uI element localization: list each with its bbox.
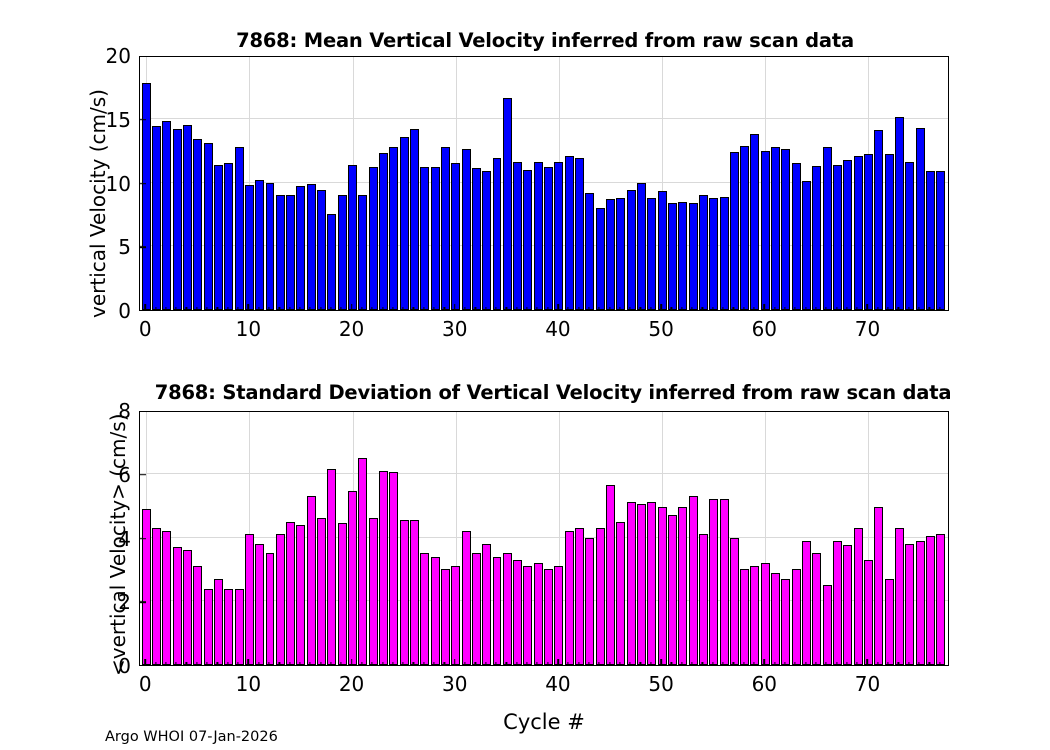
bar <box>936 171 945 310</box>
x-minor-tick-mark <box>237 307 238 311</box>
bar <box>224 163 233 310</box>
x-minor-tick-mark <box>258 662 259 666</box>
x-minor-tick-mark <box>619 307 620 311</box>
bar <box>534 563 543 665</box>
x-tick-mark <box>764 304 766 311</box>
x-minor-tick-mark <box>299 662 300 666</box>
bar <box>885 579 894 665</box>
x-minor-tick-mark <box>650 307 651 311</box>
x-tick-mark <box>867 304 869 311</box>
x-minor-tick-mark <box>423 662 424 666</box>
x-tick-label: 0 <box>139 674 152 694</box>
x-minor-tick-mark <box>939 307 940 311</box>
x-minor-tick-mark <box>609 307 610 311</box>
x-minor-tick-mark <box>227 662 228 666</box>
x-minor-tick-mark <box>217 662 218 666</box>
bar <box>585 193 594 310</box>
mean-velocity-y-axis-label: vertical Velocity (cm/s) <box>88 89 108 318</box>
x-minor-tick-mark <box>165 307 166 311</box>
bar <box>173 129 182 310</box>
std-velocity-panel: 7868: Standard Deviation of Vertical Vel… <box>0 360 1050 750</box>
x-minor-tick-mark <box>186 307 187 311</box>
bar <box>885 154 894 310</box>
x-minor-tick-mark <box>361 662 362 666</box>
x-tick-label: 30 <box>442 674 467 694</box>
x-minor-tick-mark <box>918 307 919 311</box>
x-minor-tick-mark <box>485 662 486 666</box>
x-minor-tick-mark <box>877 662 878 666</box>
x-minor-tick-mark <box>227 307 228 311</box>
x-minor-tick-mark <box>722 662 723 666</box>
x-tick-label: 70 <box>855 319 880 339</box>
x-minor-tick-mark <box>578 307 579 311</box>
bar <box>472 553 481 665</box>
x-tick-mark <box>144 304 146 311</box>
bar <box>276 534 285 665</box>
y-tick-mark <box>139 183 146 185</box>
x-tick-label: 70 <box>855 674 880 694</box>
bar <box>647 198 656 310</box>
bar <box>905 544 914 665</box>
bar <box>616 198 625 310</box>
bar <box>843 545 852 665</box>
bar <box>193 566 202 665</box>
bar <box>730 152 739 310</box>
x-tick-label: 30 <box>442 319 467 339</box>
bar <box>482 171 491 310</box>
x-minor-tick-mark <box>320 307 321 311</box>
bar <box>183 550 192 665</box>
bar <box>255 180 264 310</box>
x-minor-tick-mark <box>341 307 342 311</box>
bar <box>245 185 254 310</box>
bar <box>823 585 832 665</box>
x-minor-tick-mark <box>155 307 156 311</box>
x-minor-tick-mark <box>599 307 600 311</box>
x-tick-label: 60 <box>752 319 777 339</box>
bar <box>781 579 790 665</box>
bar <box>596 208 605 310</box>
x-minor-tick-mark <box>609 662 610 666</box>
x-minor-tick-mark <box>826 307 827 311</box>
x-minor-tick-mark <box>330 307 331 311</box>
bar <box>513 560 522 665</box>
x-minor-tick-mark <box>671 662 672 666</box>
x-minor-tick-mark <box>320 662 321 666</box>
bar <box>245 534 254 665</box>
x-minor-tick-mark <box>310 307 311 311</box>
x-minor-tick-mark <box>403 307 404 311</box>
bar <box>720 197 729 310</box>
x-minor-tick-mark <box>650 662 651 666</box>
x-minor-tick-mark <box>733 662 734 666</box>
bar <box>781 149 790 310</box>
bar <box>162 531 171 665</box>
bar <box>420 553 429 665</box>
x-minor-tick-mark <box>815 662 816 666</box>
x-minor-tick-mark <box>898 662 899 666</box>
bar <box>420 167 429 310</box>
x-tick-mark <box>660 304 662 311</box>
bar <box>709 499 718 665</box>
x-tick-mark <box>351 659 353 666</box>
x-minor-tick-mark <box>877 307 878 311</box>
bar <box>493 557 502 665</box>
bar <box>286 522 295 665</box>
mean-velocity-panel: 7868: Mean Vertical Velocity inferred fr… <box>0 0 1050 360</box>
x-minor-tick-mark <box>547 662 548 666</box>
bar <box>451 566 460 665</box>
y-tick-mark <box>139 119 146 121</box>
bar <box>286 195 295 310</box>
x-minor-tick-mark <box>413 307 414 311</box>
figure-canvas: 7868: Mean Vertical Velocity inferred fr… <box>0 0 1050 750</box>
bar <box>606 485 615 665</box>
std-velocity-y-axis-label: <vertical Velocity> (cm/s) <box>108 414 128 677</box>
bar <box>637 183 646 311</box>
x-tick-mark <box>454 659 456 666</box>
bar <box>699 534 708 665</box>
x-minor-tick-mark <box>299 307 300 311</box>
bar <box>905 162 914 310</box>
x-minor-tick-mark <box>207 307 208 311</box>
x-minor-tick-mark <box>341 662 342 666</box>
figure-footer-note: Argo WHOI 07-Jan-2026 <box>105 730 278 745</box>
x-minor-tick-mark <box>237 662 238 666</box>
bar <box>647 502 656 665</box>
x-minor-tick-mark <box>908 307 909 311</box>
bar <box>462 149 471 310</box>
x-minor-tick-mark <box>330 662 331 666</box>
x-minor-tick-mark <box>423 307 424 311</box>
bar <box>565 531 574 665</box>
x-tick-mark <box>248 659 250 666</box>
bar <box>431 557 440 665</box>
std-velocity-bars <box>140 412 948 665</box>
x-minor-tick-mark <box>795 662 796 666</box>
x-minor-tick-mark <box>547 307 548 311</box>
bar <box>152 126 161 310</box>
x-minor-tick-mark <box>743 307 744 311</box>
bar <box>214 579 223 665</box>
x-tick-label: 60 <box>752 674 777 694</box>
x-tick-mark <box>454 304 456 311</box>
x-tick-mark <box>764 659 766 666</box>
bar <box>833 541 842 665</box>
bar <box>317 190 326 310</box>
x-minor-tick-mark <box>857 307 858 311</box>
bar <box>554 162 563 310</box>
bar <box>400 520 409 665</box>
bar <box>204 143 213 310</box>
x-tick-label: 20 <box>339 674 364 694</box>
x-minor-tick-mark <box>712 662 713 666</box>
bar <box>534 162 543 310</box>
x-minor-tick-mark <box>578 662 579 666</box>
x-minor-tick-mark <box>434 662 435 666</box>
x-minor-tick-mark <box>475 307 476 311</box>
bar <box>348 165 357 310</box>
x-minor-tick-mark <box>805 662 806 666</box>
x-tick-label: 20 <box>339 319 364 339</box>
bar <box>689 496 698 665</box>
x-minor-tick-mark <box>846 662 847 666</box>
bar <box>740 569 749 665</box>
x-minor-tick-mark <box>372 307 373 311</box>
x-minor-tick-mark <box>898 307 899 311</box>
bar <box>854 156 863 310</box>
x-minor-tick-mark <box>495 662 496 666</box>
bar <box>689 203 698 310</box>
bar <box>441 147 450 310</box>
x-minor-tick-mark <box>444 662 445 666</box>
x-minor-tick-mark <box>753 662 754 666</box>
bar <box>389 472 398 665</box>
x-minor-tick-mark <box>516 662 517 666</box>
x-minor-tick-mark <box>857 662 858 666</box>
x-minor-tick-mark <box>289 662 290 666</box>
x-minor-tick-mark <box>784 307 785 311</box>
bar <box>162 121 171 310</box>
bar <box>678 202 687 310</box>
bar <box>523 170 532 310</box>
bar <box>895 117 904 310</box>
mean-velocity-chart-title: 7868: Mean Vertical Velocity inferred fr… <box>20 29 1050 52</box>
x-tick-label: 0 <box>139 319 152 339</box>
bar <box>843 160 852 310</box>
bar <box>410 520 419 665</box>
bar <box>627 190 636 310</box>
bar <box>575 528 584 665</box>
x-minor-tick-mark <box>207 662 208 666</box>
bar <box>235 589 244 666</box>
x-minor-tick-mark <box>392 307 393 311</box>
x-minor-tick-mark <box>918 662 919 666</box>
bar <box>678 507 687 665</box>
bar <box>389 147 398 310</box>
bar <box>513 162 522 310</box>
x-minor-tick-mark <box>506 307 507 311</box>
bar <box>379 153 388 310</box>
bar <box>224 589 233 666</box>
x-minor-tick-mark <box>681 662 682 666</box>
bar <box>658 191 667 310</box>
x-minor-tick-mark <box>526 307 527 311</box>
y-tick-mark <box>139 538 146 540</box>
bar <box>761 563 770 665</box>
bar <box>441 569 450 665</box>
bar <box>916 541 925 665</box>
y-tick-mark <box>139 246 146 248</box>
bar <box>235 147 244 310</box>
bar <box>296 525 305 665</box>
x-minor-tick-mark <box>630 307 631 311</box>
bar <box>369 167 378 310</box>
x-minor-tick-mark <box>774 307 775 311</box>
bar <box>523 566 532 665</box>
bar <box>482 544 491 665</box>
x-minor-tick-mark <box>619 662 620 666</box>
bar <box>276 195 285 310</box>
bar <box>730 538 739 666</box>
bar <box>214 165 223 310</box>
bar <box>699 195 708 310</box>
bar <box>616 522 625 665</box>
x-minor-tick-mark <box>403 662 404 666</box>
x-minor-tick-mark <box>444 307 445 311</box>
x-minor-tick-mark <box>588 662 589 666</box>
bar <box>750 134 759 310</box>
bar <box>771 147 780 310</box>
x-tick-label: 40 <box>545 319 570 339</box>
bar <box>874 130 883 310</box>
bar <box>916 128 925 310</box>
x-minor-tick-mark <box>815 307 816 311</box>
x-tick-label: 50 <box>648 674 673 694</box>
x-minor-tick-mark <box>485 307 486 311</box>
x-minor-tick-mark <box>733 307 734 311</box>
x-minor-tick-mark <box>196 662 197 666</box>
x-minor-tick-mark <box>176 307 177 311</box>
bar <box>761 151 770 310</box>
x-minor-tick-mark <box>506 662 507 666</box>
x-minor-tick-mark <box>268 662 269 666</box>
x-minor-tick-mark <box>836 307 837 311</box>
bar <box>307 184 316 310</box>
x-minor-tick-mark <box>702 662 703 666</box>
x-minor-tick-mark <box>795 307 796 311</box>
bar <box>327 214 336 310</box>
x-minor-tick-mark <box>836 662 837 666</box>
x-minor-tick-mark <box>196 307 197 311</box>
bar <box>709 198 718 310</box>
bar <box>317 518 326 665</box>
bar <box>864 560 873 665</box>
bar <box>410 129 419 310</box>
bar <box>740 146 749 310</box>
x-minor-tick-mark <box>929 307 930 311</box>
bar <box>255 544 264 665</box>
x-minor-tick-mark <box>464 307 465 311</box>
x-minor-tick-mark <box>279 307 280 311</box>
x-tick-mark <box>660 659 662 666</box>
x-minor-tick-mark <box>888 662 889 666</box>
x-tick-mark <box>867 659 869 666</box>
x-minor-tick-mark <box>753 307 754 311</box>
bar <box>926 171 935 310</box>
x-minor-tick-mark <box>289 307 290 311</box>
bar <box>544 569 553 665</box>
x-minor-tick-mark <box>722 307 723 311</box>
x-minor-tick-mark <box>495 307 496 311</box>
x-minor-tick-mark <box>310 662 311 666</box>
bar <box>792 569 801 665</box>
bar <box>358 195 367 310</box>
x-minor-tick-mark <box>784 662 785 666</box>
x-minor-tick-mark <box>464 662 465 666</box>
x-minor-tick-mark <box>640 307 641 311</box>
x-minor-tick-mark <box>846 307 847 311</box>
bar <box>823 147 832 310</box>
x-minor-tick-mark <box>691 662 692 666</box>
x-minor-tick-mark <box>475 662 476 666</box>
x-minor-tick-mark <box>526 662 527 666</box>
bar <box>658 507 667 665</box>
x-tick-mark <box>557 659 559 666</box>
x-minor-tick-mark <box>155 662 156 666</box>
std-velocity-chart-title: 7868: Standard Deviation of Vertical Vel… <box>28 381 1050 404</box>
x-minor-tick-mark <box>537 662 538 666</box>
bar <box>266 553 275 665</box>
x-minor-tick-mark <box>712 307 713 311</box>
x-minor-tick-mark <box>939 662 940 666</box>
bar <box>142 83 151 310</box>
x-tick-label: 50 <box>648 319 673 339</box>
bar <box>451 163 460 310</box>
x-minor-tick-mark <box>537 307 538 311</box>
x-minor-tick-mark <box>691 307 692 311</box>
bar <box>854 528 863 665</box>
bar <box>627 502 636 665</box>
x-tick-label: 10 <box>236 319 261 339</box>
x-minor-tick-mark <box>888 307 889 311</box>
y-tick-label: 20 <box>77 46 131 66</box>
y-tick-mark <box>139 474 146 476</box>
x-minor-tick-mark <box>588 307 589 311</box>
bar <box>750 566 759 665</box>
x-tick-mark <box>351 304 353 311</box>
bar <box>327 469 336 665</box>
bar <box>637 504 646 665</box>
x-minor-tick-mark <box>826 662 827 666</box>
bar <box>400 137 409 310</box>
bar <box>668 203 677 310</box>
y-tick-mark <box>139 601 146 603</box>
bar <box>668 515 677 665</box>
bar <box>895 528 904 665</box>
bar <box>307 496 316 665</box>
bar <box>338 195 347 310</box>
x-minor-tick-mark <box>929 662 930 666</box>
x-minor-tick-mark <box>516 307 517 311</box>
x-minor-tick-mark <box>176 662 177 666</box>
x-tick-mark <box>248 304 250 311</box>
x-minor-tick-mark <box>774 662 775 666</box>
bar <box>152 528 161 665</box>
bar <box>266 183 275 311</box>
x-minor-tick-mark <box>434 307 435 311</box>
x-minor-tick-mark <box>217 307 218 311</box>
x-minor-tick-mark <box>681 307 682 311</box>
x-tick-mark <box>144 659 146 666</box>
x-minor-tick-mark <box>382 662 383 666</box>
bar <box>812 553 821 665</box>
bar <box>544 167 553 310</box>
x-minor-tick-mark <box>279 662 280 666</box>
bar <box>369 518 378 665</box>
mean-velocity-axes <box>139 56 949 311</box>
x-minor-tick-mark <box>599 662 600 666</box>
bar <box>606 199 615 310</box>
bar <box>431 167 440 310</box>
x-minor-tick-mark <box>568 662 569 666</box>
x-minor-tick-mark <box>640 662 641 666</box>
bar <box>771 573 780 665</box>
x-tick-label: 40 <box>545 674 570 694</box>
x-minor-tick-mark <box>908 662 909 666</box>
x-minor-tick-mark <box>372 662 373 666</box>
bar <box>802 541 811 665</box>
